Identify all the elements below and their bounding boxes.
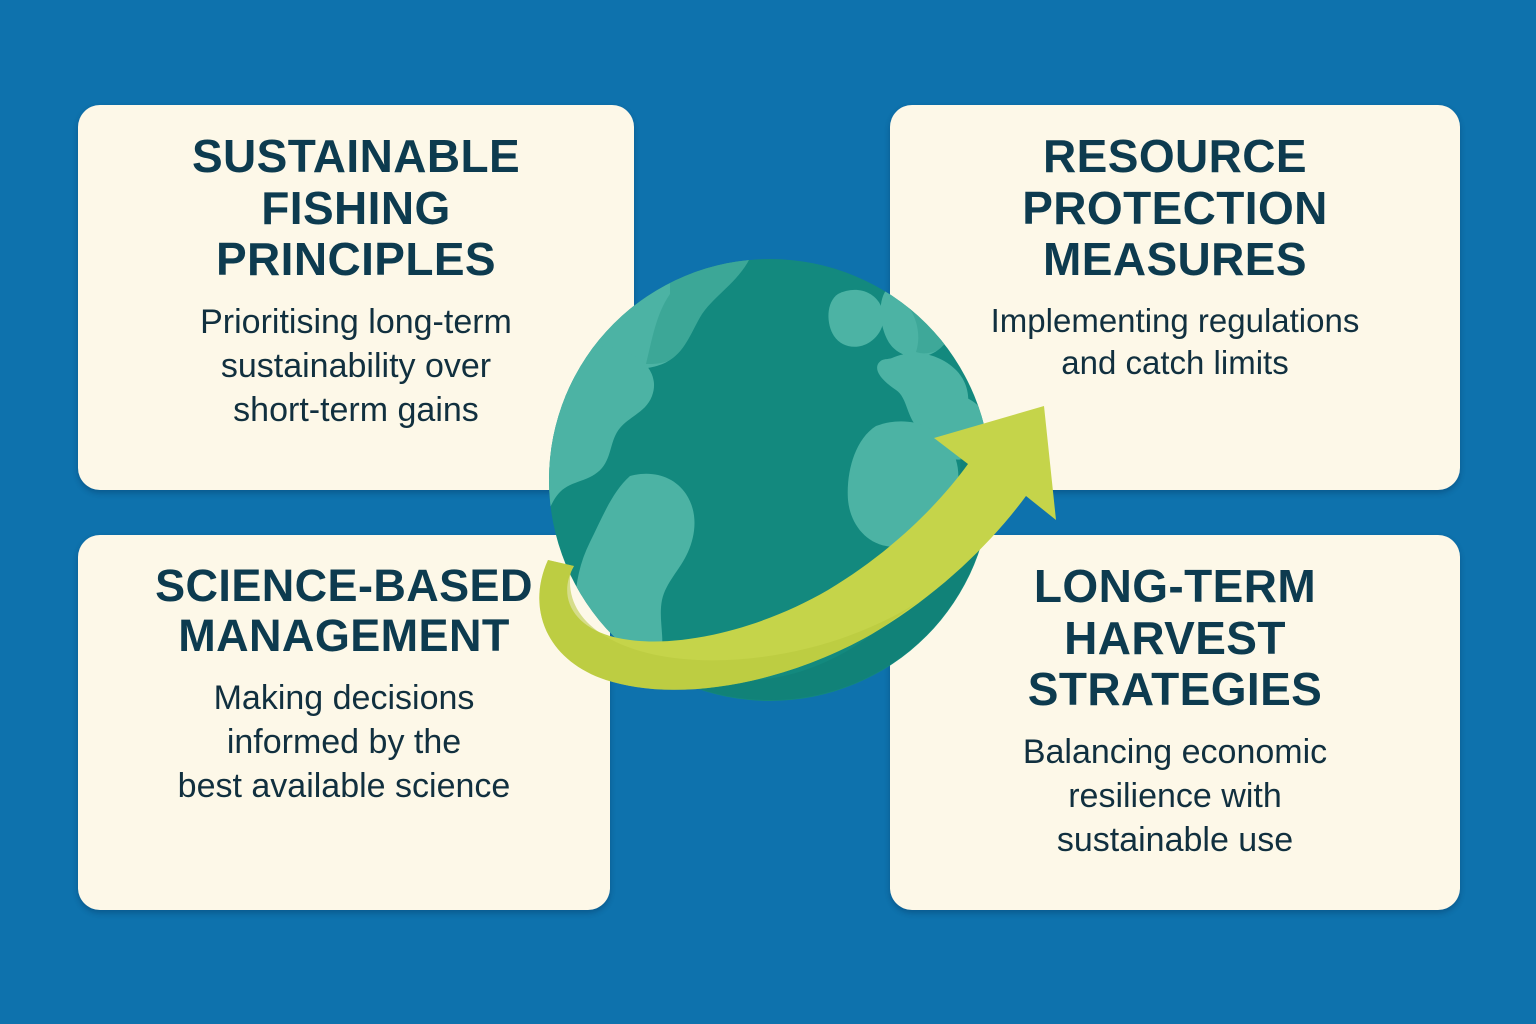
card-title: SUSTAINABLE FISHING PRINCIPLES — [192, 131, 520, 286]
card-science-based-management[interactable]: SCIENCE-BASED MANAGEMENT Making decision… — [78, 535, 610, 910]
card-title: LONG-TERM HARVEST STRATEGIES — [1028, 561, 1323, 716]
card-body: Prioritising long-term sustainability ov… — [200, 300, 512, 433]
card-resource-protection-measures[interactable]: RESOURCE PROTECTION MEASURES Implementin… — [890, 105, 1460, 490]
card-long-term-harvest-strategies[interactable]: LONG-TERM HARVEST STRATEGIES Balancing e… — [890, 535, 1460, 910]
card-title: SCIENCE-BASED MANAGEMENT — [155, 561, 533, 662]
card-body: Balancing economic resilience with susta… — [1023, 730, 1327, 863]
card-sustainable-fishing-principles[interactable]: SUSTAINABLE FISHING PRINCIPLES Prioritis… — [78, 105, 634, 490]
card-title: RESOURCE PROTECTION MEASURES — [1022, 131, 1328, 286]
card-body: Implementing regulations and catch limit… — [991, 300, 1360, 386]
card-body: Making decisions informed by the best av… — [178, 676, 511, 809]
infographic-canvas: SUSTAINABLE FISHING PRINCIPLES Prioritis… — [0, 0, 1536, 1024]
